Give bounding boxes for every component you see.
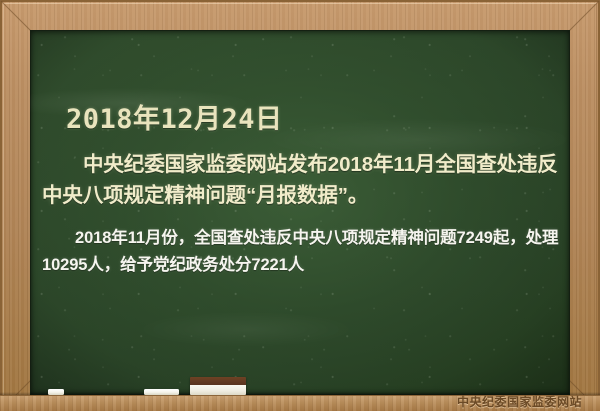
chalk-text-block: 2018年12月24日 中央纪委国家监委网站发布2018年11月全国查处违反中央…: [38, 105, 566, 278]
date-line: 2018年12月24日: [38, 105, 566, 135]
blackboard-figure: 2018年12月24日 中央纪委国家监委网站发布2018年11月全国查处违反中央…: [0, 0, 600, 411]
eraser-felt: [190, 385, 246, 395]
chalkboard-surface: 2018年12月24日 中央纪委国家监委网站发布2018年11月全国查处违反中央…: [30, 30, 570, 395]
body-paragraph-text: 2018年11月份，全国查处违反中央八项规定精神问题7249起，处理10295人…: [38, 225, 566, 278]
headline-text: 中央纪委国家监委网站发布2018年11月全国查处违反中央八项规定精神问题“月报数…: [38, 149, 566, 211]
source-watermark: 中央纪委国家监委网站: [457, 393, 582, 410]
blackboard-eraser: [190, 377, 246, 395]
eraser-wood-top: [190, 377, 246, 385]
